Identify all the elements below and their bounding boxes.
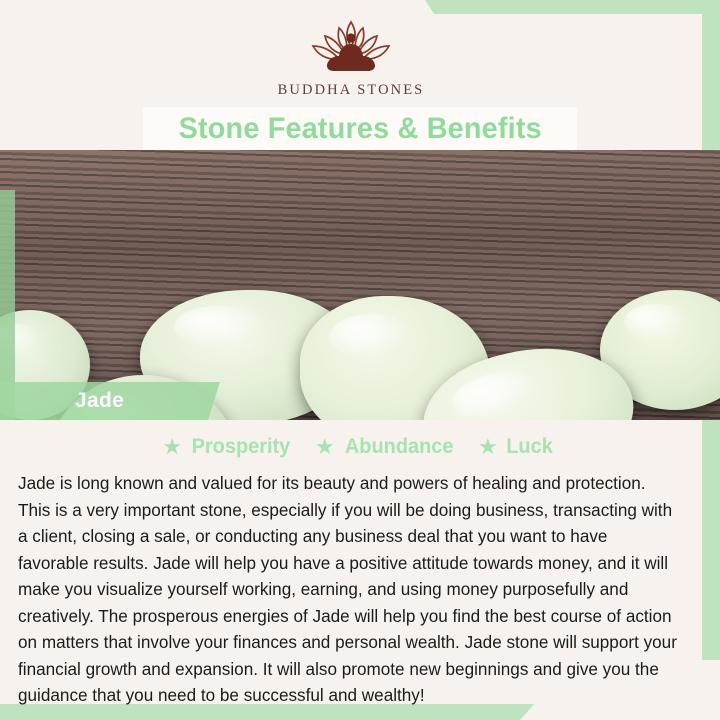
page-title: Stone Features & Benefits <box>178 112 541 146</box>
benefits-row: ★ Prosperity ★ Abundance ★ Luck <box>14 420 702 464</box>
benefit-label: Prosperity <box>192 435 291 459</box>
stone-name-label: Jade <box>75 389 124 413</box>
stone-photo <box>0 150 720 420</box>
brand-name: BUDDHA STONES <box>278 82 425 99</box>
title-banner: Stone Features & Benefits <box>143 107 577 150</box>
benefit-item: ★ Abundance <box>315 435 456 459</box>
stone-description: Jade is long known and valued for its be… <box>18 470 682 709</box>
benefit-label: Abundance <box>344 435 453 459</box>
star-icon: ★ <box>315 436 335 458</box>
content-section: ★ Prosperity ★ Abundance ★ Luck Jade is … <box>14 420 702 692</box>
star-icon: ★ <box>478 436 498 458</box>
star-icon: ★ <box>162 436 182 458</box>
brand-logo: BUDDHA STONES <box>0 16 702 108</box>
stone-info-card: BUDDHA STONES Stone Features & Benefits … <box>0 0 720 720</box>
stone-name-band: Jade <box>0 382 220 420</box>
benefit-label: Luck <box>506 435 553 459</box>
benefit-item: ★ Prosperity <box>162 435 293 459</box>
benefit-item: ★ Luck <box>478 435 554 459</box>
lotus-meditation-icon <box>287 16 415 80</box>
